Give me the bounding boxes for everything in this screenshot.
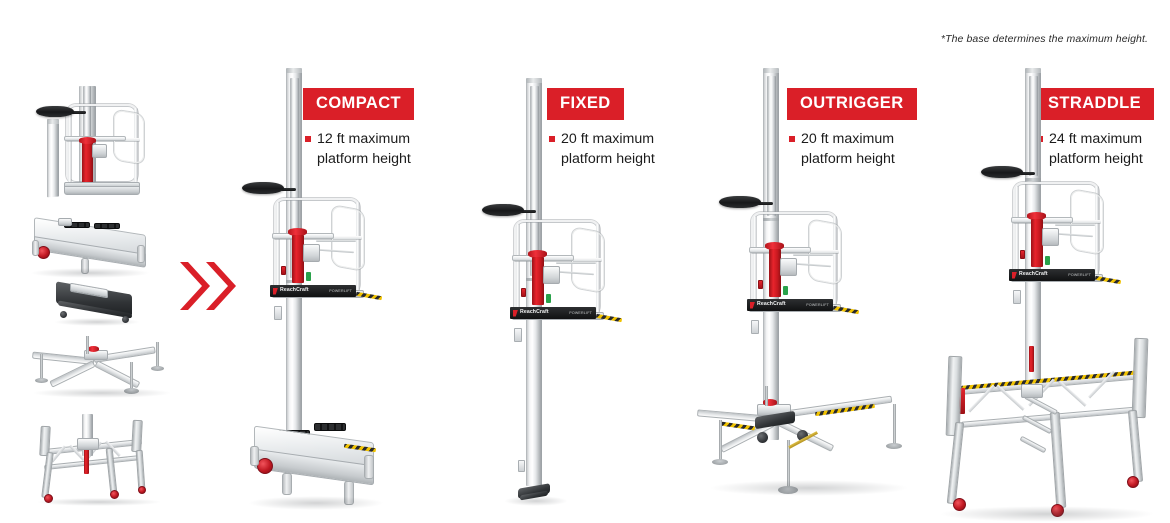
machine-compact: ReachCraft POWERLIFT (240, 68, 390, 518)
component-counterweight-box-base (24, 218, 174, 276)
footnote: *The base determines the maximum height. (941, 33, 1148, 45)
comparison-graphic: *The base determines the maximum height. (0, 0, 1170, 523)
nameplate-fixed: ReachCraft POWERLIFT (510, 307, 596, 319)
nameplate-compact: ReachCraft POWERLIFT (270, 285, 356, 297)
nameplate-brand: ReachCraft (520, 310, 549, 315)
machine-fixed: ReachCraft POWERLIFT (480, 68, 630, 518)
brand-mark-icon (273, 288, 278, 295)
brand-mark-icon (513, 310, 518, 317)
component-straddle-truss-base (22, 398, 178, 506)
nameplate-model: POWERLIFT (806, 303, 830, 307)
brand-mark-icon (1012, 272, 1017, 279)
nameplate-straddle: ReachCraft POWERLIFT (1009, 269, 1095, 281)
component-lift-head-assembly (22, 86, 178, 212)
machine-outrigger: ReachCraft POWERLIFT (715, 68, 905, 518)
double-chevron-right-icon (178, 258, 242, 314)
nameplate-model: POWERLIFT (329, 289, 353, 293)
nameplate-brand: ReachCraft (280, 288, 309, 293)
nameplate-outrigger: ReachCraft POWERLIFT (747, 299, 833, 311)
nameplate-brand: ReachCraft (757, 302, 786, 307)
nameplate-brand: ReachCraft (1019, 272, 1048, 277)
component-fixed-floor-plate (48, 280, 168, 324)
nameplate-model: POWERLIFT (569, 311, 593, 315)
brand-mark-icon (750, 302, 755, 309)
machine-straddle: ReachCraft POWERLIFT (925, 62, 1155, 522)
component-outrigger-spider-base (22, 332, 178, 398)
nameplate-model: POWERLIFT (1068, 273, 1092, 277)
